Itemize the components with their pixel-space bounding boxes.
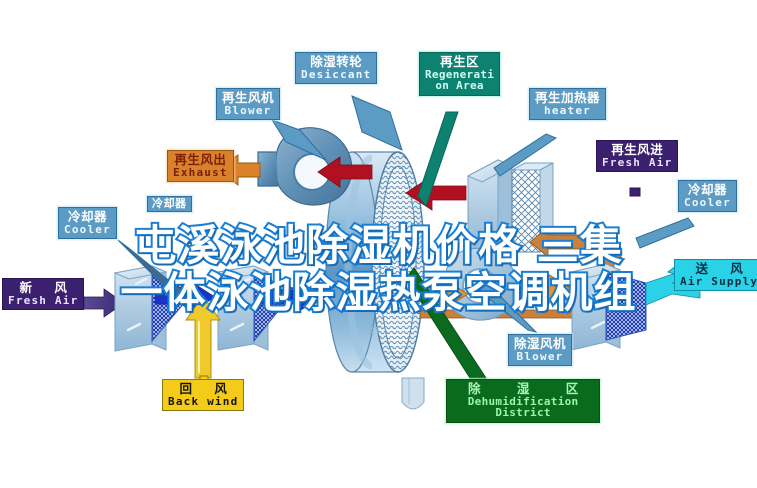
drain-pan	[402, 378, 424, 409]
label-back-wind-cn: 回 风	[168, 382, 238, 396]
label-dehumidification-blower-cn: 除湿风机	[514, 337, 566, 351]
label-regeneration-fresh-air-in-cn: 再生风进	[602, 143, 672, 157]
label-regeneration-heater[interactable]: 再生加热器 heater	[529, 88, 606, 120]
label-dehumidification-blower-en: Blower	[514, 351, 566, 363]
label-desiccant-rotor-en: Desiccant	[301, 69, 371, 81]
label-cooler-left-upper-cn: 冷却器	[152, 198, 187, 210]
label-regeneration-blower[interactable]: 再生风机 Blower	[216, 88, 280, 120]
label-exhaust-en: Exhaust	[173, 167, 228, 179]
label-cooler-right[interactable]: 冷却器 Cooler	[678, 180, 737, 212]
label-cooler-left-en: Cooler	[64, 224, 111, 236]
label-fresh-air-in-en: Fresh Air	[8, 295, 78, 307]
cooler-coil-mid	[218, 266, 296, 350]
label-air-supply-cn: 送 风	[680, 262, 757, 276]
label-regeneration-area[interactable]: 再生区 Regenerati on Area	[419, 52, 500, 96]
label-air-supply[interactable]: 送 风 Air Supply	[674, 259, 757, 291]
label-regeneration-blower-cn: 再生风机	[222, 91, 274, 105]
label-regeneration-fresh-air-in[interactable]: 再生风进 Fresh Air	[596, 140, 678, 172]
label-exhaust[interactable]: 再生风出 Exhaust	[167, 150, 234, 182]
label-regeneration-heater-cn: 再生加热器	[535, 91, 600, 105]
label-fresh-air-in[interactable]: 新 风 Fresh Air	[2, 278, 84, 310]
label-desiccant-rotor[interactable]: 除湿转轮 Desiccant	[295, 52, 377, 84]
label-cooler-left-upper[interactable]: 冷却器	[147, 196, 192, 212]
label-regeneration-area-en-2: on Area	[425, 80, 494, 92]
label-regeneration-area-cn: 再生区	[425, 55, 494, 69]
label-regeneration-blower-en: Blower	[222, 105, 274, 117]
svg-text:XT: XT	[367, 325, 381, 338]
label-dehumidification-district-cn: 除 湿 区	[452, 382, 594, 396]
label-cooler-left[interactable]: 冷却器 Cooler	[58, 207, 117, 239]
label-air-supply-en: Air Supply	[680, 276, 757, 288]
label-regeneration-fresh-air-in-en: Fresh Air	[602, 157, 672, 169]
label-back-wind-en: Back wind	[168, 396, 238, 408]
label-cooler-left-cn: 冷却器	[64, 210, 111, 224]
label-fresh-air-in-cn: 新 风	[8, 281, 78, 295]
schematic-artwork: XT	[0, 0, 757, 488]
label-dehumidification-blower[interactable]: 除湿风机 Blower	[508, 334, 572, 366]
label-dehumidification-district[interactable]: 除 湿 区 Dehumidification District	[446, 379, 600, 423]
supply-filter	[572, 264, 646, 350]
cooler-coil-left	[115, 266, 196, 351]
diagram-canvas: XT	[0, 0, 757, 488]
label-cooler-right-en: Cooler	[684, 197, 731, 209]
label-back-wind[interactable]: 回 风 Back wind	[162, 379, 244, 411]
label-exhaust-cn: 再生风出	[173, 153, 228, 167]
label-desiccant-rotor-cn: 除湿转轮	[301, 55, 371, 69]
label-regeneration-heater-en: heater	[535, 105, 600, 117]
label-dehumidification-district-en-2: District	[452, 407, 594, 419]
label-cooler-right-cn: 冷却器	[684, 183, 731, 197]
